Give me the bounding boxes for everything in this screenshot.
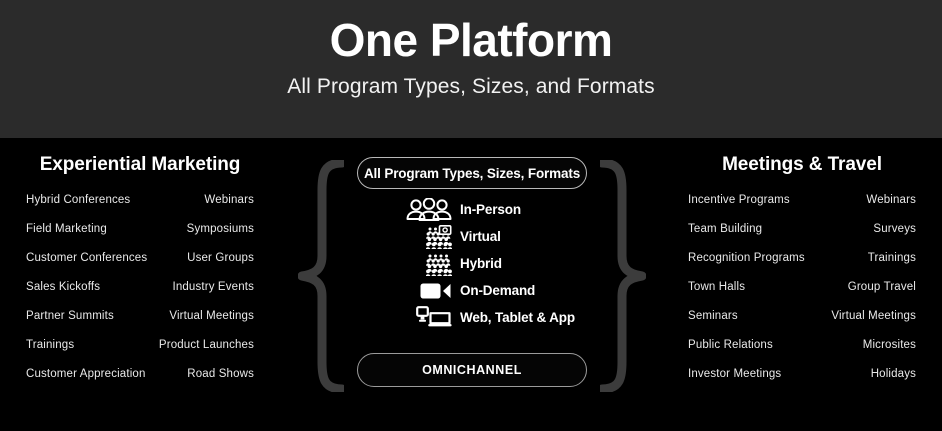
- list-item: Customer AppreciationRoad Shows: [26, 368, 254, 397]
- format-row[interactable]: Web, Tablet & App: [300, 304, 645, 331]
- left-column-title: Experiential Marketing: [0, 154, 280, 176]
- format-label: Web, Tablet & App: [460, 310, 575, 325]
- list-item: Hybrid ConferencesWebinars: [26, 194, 254, 223]
- header-banner: One Platform All Program Types, Sizes, a…: [0, 0, 942, 138]
- omnichannel-button[interactable]: OMNICHANNEL: [357, 353, 587, 387]
- meetings-item-primary: Town Halls: [688, 281, 745, 293]
- list-item: SeminarsVirtual Meetings: [688, 310, 916, 339]
- experiential-item-secondary: Webinars: [204, 194, 254, 206]
- experiential-item-secondary: User Groups: [187, 252, 254, 264]
- experiential-item-secondary: Virtual Meetings: [169, 310, 254, 322]
- devices-icon: [300, 306, 460, 330]
- group-people-icon: [300, 198, 460, 222]
- list-item: Sales KickoffsIndustry Events: [26, 281, 254, 310]
- meetings-item-secondary: Group Travel: [848, 281, 916, 293]
- experiential-item-primary: Customer Appreciation: [26, 368, 146, 380]
- meetings-item-secondary: Microsites: [863, 339, 916, 351]
- list-item: Town HallsGroup Travel: [688, 281, 916, 310]
- experiential-item-primary: Hybrid Conferences: [26, 194, 130, 206]
- content-area: Experiential Marketing Hybrid Conference…: [0, 138, 942, 431]
- format-label: On-Demand: [460, 283, 535, 298]
- experiential-item-primary: Customer Conferences: [26, 252, 147, 264]
- format-label: In-Person: [460, 202, 521, 217]
- one-platform-infographic: One Platform All Program Types, Sizes, a…: [0, 0, 942, 431]
- format-row[interactable]: In-Person: [300, 196, 645, 223]
- experiential-item-secondary: Industry Events: [172, 281, 254, 293]
- meetings-item-primary: Recognition Programs: [688, 252, 805, 264]
- right-column-title: Meetings & Travel: [662, 154, 942, 176]
- experiential-marketing-column: Experiential Marketing Hybrid Conference…: [0, 154, 280, 397]
- experiential-item-secondary: Symposiums: [187, 223, 254, 235]
- meetings-item-secondary: Holidays: [871, 368, 916, 380]
- list-item: Investor MeetingsHolidays: [688, 368, 916, 397]
- page-subtitle: All Program Types, Sizes, and Formats: [287, 75, 654, 99]
- meetings-item-secondary: Surveys: [873, 223, 916, 235]
- list-item: Incentive ProgramsWebinars: [688, 194, 916, 223]
- meetings-travel-column: Meetings & Travel Incentive ProgramsWebi…: [662, 154, 942, 397]
- experiential-item-primary: Field Marketing: [26, 223, 107, 235]
- format-row[interactable]: Hybrid: [300, 250, 645, 277]
- meetings-item-secondary: Trainings: [868, 252, 916, 264]
- list-item: Team BuildingSurveys: [688, 223, 916, 252]
- meetings-item-primary: Team Building: [688, 223, 762, 235]
- list-item: Customer ConferencesUser Groups: [26, 252, 254, 281]
- meetings-item-primary: Investor Meetings: [688, 368, 781, 380]
- all-program-types-pill[interactable]: All Program Types, Sizes, Formats: [357, 157, 587, 189]
- experiential-item-primary: Sales Kickoffs: [26, 281, 100, 293]
- omnichannel-label: OMNICHANNEL: [422, 363, 522, 377]
- experiential-item-secondary: Road Shows: [187, 368, 254, 380]
- meetings-item-secondary: Webinars: [866, 194, 916, 206]
- meetings-item-primary: Public Relations: [688, 339, 773, 351]
- right-column-rows: Incentive ProgramsWebinarsTeam BuildingS…: [662, 194, 942, 397]
- meetings-item-primary: Seminars: [688, 310, 738, 322]
- center-panel: All Program Types, Sizes, Formats In-Per…: [300, 148, 645, 413]
- list-item: Field MarketingSymposiums: [26, 223, 254, 252]
- experiential-item-primary: Partner Summits: [26, 310, 114, 322]
- format-row[interactable]: On-Demand: [300, 277, 645, 304]
- meetings-item-secondary: Virtual Meetings: [831, 310, 916, 322]
- format-list: In-PersonVirtualHybridOn-DemandWeb, Tabl…: [300, 196, 645, 331]
- all-program-types-pill-label: All Program Types, Sizes, Formats: [364, 166, 580, 181]
- page-title: One Platform: [330, 14, 613, 67]
- format-label: Virtual: [460, 229, 501, 244]
- experiential-item-primary: Trainings: [26, 339, 74, 351]
- list-item: Public RelationsMicrosites: [688, 339, 916, 368]
- virtual-audience-icon: [300, 225, 460, 249]
- list-item: Recognition ProgramsTrainings: [688, 252, 916, 281]
- video-camera-icon: [300, 281, 460, 301]
- list-item: TrainingsProduct Launches: [26, 339, 254, 368]
- hybrid-audience-icon: [300, 252, 460, 276]
- meetings-item-primary: Incentive Programs: [688, 194, 790, 206]
- format-row[interactable]: Virtual: [300, 223, 645, 250]
- left-column-rows: Hybrid ConferencesWebinarsField Marketin…: [0, 194, 280, 397]
- experiential-item-secondary: Product Launches: [159, 339, 254, 351]
- format-label: Hybrid: [460, 256, 502, 271]
- list-item: Partner SummitsVirtual Meetings: [26, 310, 254, 339]
